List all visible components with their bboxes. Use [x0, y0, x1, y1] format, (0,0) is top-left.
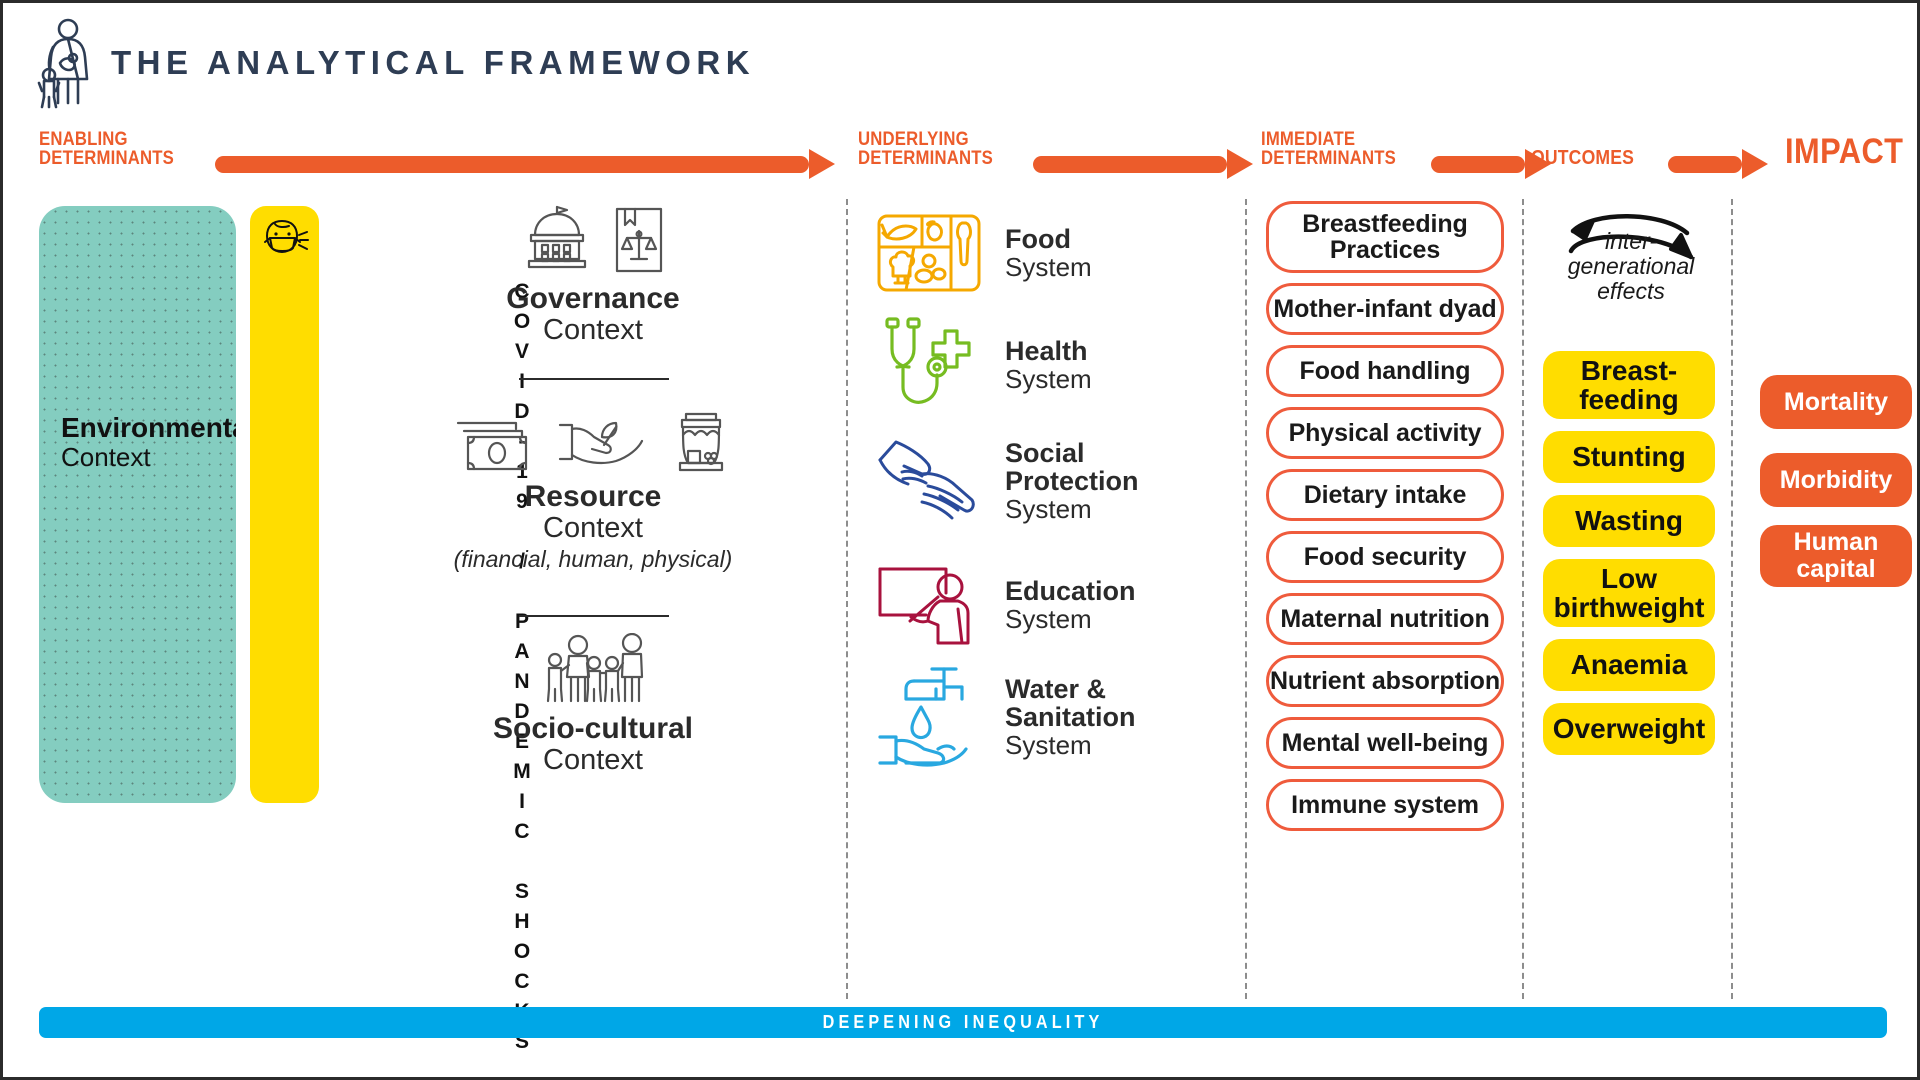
phase-label-enabling: ENABLING DETERMINANTS — [39, 130, 174, 169]
context-divider-2 — [519, 615, 669, 617]
intergenerational-effects-label: inter- generational effects — [1543, 229, 1719, 303]
phase-label-outcomes: OUTCOMES — [1531, 148, 1634, 168]
resource-title: Resource — [343, 481, 843, 513]
determinant-pill[interactable]: Mental well-being — [1266, 717, 1504, 769]
arrow-outcomes-to-impact — [1668, 156, 1768, 173]
governance-subtitle: Context — [343, 315, 843, 347]
phase-label-impact: IMPACT — [1785, 134, 1903, 170]
outcome-pill[interactable]: Low birthweight — [1543, 559, 1715, 627]
sociocultural-icons — [343, 633, 843, 705]
analytical-framework-infographic: THE ANALYTICAL FRAMEWORK ENABLING DETERM… — [0, 0, 1920, 1080]
system-label-water-sanitation: Water & Sanitation System — [1005, 675, 1136, 760]
outcome-pill[interactable]: Anaemia — [1543, 639, 1715, 691]
teacher-blackboard-icon — [875, 555, 983, 655]
sociocultural-subtitle: Context — [343, 745, 843, 777]
system-row-health: Health System — [875, 315, 1235, 415]
divider-underlying — [846, 199, 848, 999]
system-label-health: Health System — [1005, 337, 1092, 393]
helping-hands-icon — [875, 431, 983, 531]
stethoscope-cross-icon — [875, 315, 983, 415]
deepening-inequality-label: DEEPENING INEQUALITY — [823, 1012, 1104, 1033]
system-row-food: Food System — [875, 203, 1235, 303]
system-row-social-protection: Social Protection System — [875, 431, 1235, 531]
resource-subtitle: Context — [343, 513, 843, 545]
phase-label-immediate: IMMEDIATE DETERMINANTS — [1261, 130, 1396, 169]
page-title: THE ANALYTICAL FRAMEWORK — [111, 44, 755, 82]
outcome-pill[interactable]: Overweight — [1543, 703, 1715, 755]
system-label-food: Food System — [1005, 225, 1092, 281]
divider-immediate — [1245, 199, 1247, 999]
resource-icons — [343, 411, 843, 473]
determinant-pill[interactable]: Nutrient absorption — [1266, 655, 1504, 707]
banknotes-icon — [454, 417, 532, 473]
arrow-enabling-to-underlying — [215, 156, 835, 173]
phase-flow-bar: ENABLING DETERMINANTS UNDERLYING DETERMI… — [3, 125, 1920, 185]
determinant-pill[interactable]: Maternal nutrition — [1266, 593, 1504, 645]
environmental-context-label: Environmental Context — [61, 412, 236, 472]
outcome-pill[interactable]: Stunting — [1543, 431, 1715, 483]
deepening-inequality-bar: DEEPENING INEQUALITY — [39, 1007, 1887, 1038]
governance-context-block: Governance Context — [343, 203, 843, 347]
mother-child-icon — [31, 17, 95, 109]
system-label-social-protection: Social Protection System — [1005, 439, 1139, 524]
tap-handwash-icon — [875, 667, 983, 767]
covid-pandemic-shocks-band: COVID-19 / PANDEMIC SHOCKS — [250, 206, 319, 803]
system-row-education: Education System — [875, 555, 1235, 655]
determinant-pill[interactable]: Mother-infant dyad — [1266, 283, 1504, 335]
determinant-pill[interactable]: Food handling — [1266, 345, 1504, 397]
government-building-icon — [519, 203, 595, 275]
food-tray-icon — [875, 203, 983, 303]
system-row-water-sanitation: Water & Sanitation System — [875, 667, 1235, 767]
market-shop-icon — [670, 411, 732, 473]
hand-with-plant-icon — [558, 415, 644, 473]
impact-pill[interactable]: Mortality — [1760, 375, 1912, 429]
family-group-icon — [541, 633, 645, 705]
context-divider-1 — [519, 378, 669, 380]
enabling-contexts-column: Governance Context — [343, 203, 843, 1003]
determinant-pill[interactable]: Physical activity — [1266, 407, 1504, 459]
divider-impact — [1731, 199, 1733, 999]
phase-label-underlying: UNDERLYING DETERMINANTS — [858, 130, 993, 169]
baby-with-mask-icon — [259, 218, 311, 266]
determinant-pill[interactable]: Food security — [1266, 531, 1504, 583]
system-label-education: Education System — [1005, 577, 1136, 633]
sociocultural-title: Socio-cultural — [343, 713, 843, 745]
governance-title: Governance — [343, 283, 843, 315]
outcome-pill[interactable]: Wasting — [1543, 495, 1715, 547]
resource-note: (financial, human, physical) — [343, 546, 843, 574]
determinant-pill[interactable]: Immune system — [1266, 779, 1504, 831]
governance-icons — [343, 203, 843, 275]
divider-outcomes — [1522, 199, 1524, 999]
impact-pill[interactable]: Human capital — [1760, 525, 1912, 587]
arrow-underlying-to-immediate — [1033, 156, 1253, 173]
header: THE ANALYTICAL FRAMEWORK — [31, 17, 755, 109]
determinant-pill[interactable]: Dietary intake — [1266, 469, 1504, 521]
sociocultural-context-block: Socio-cultural Context — [343, 633, 843, 777]
legal-document-scales-icon — [611, 205, 667, 275]
determinant-pill[interactable]: Breastfeeding Practices — [1266, 201, 1504, 273]
outcome-pill[interactable]: Breast-feeding — [1543, 351, 1715, 419]
resource-context-block: Resource Context (financial, human, phys… — [343, 411, 843, 574]
impact-pill[interactable]: Morbidity — [1760, 453, 1912, 507]
